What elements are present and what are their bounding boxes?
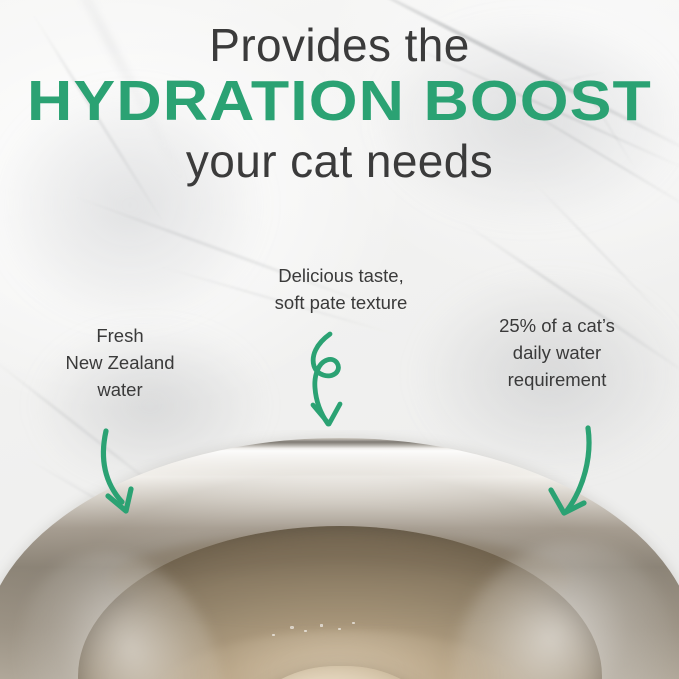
broth-bubble [320, 624, 323, 627]
annotation-delicious-taste-soft-pate: Delicious taste, soft pate texture [236, 262, 446, 316]
headline-line-2-accent: HYDRATION BOOST [0, 73, 679, 130]
headline-line-3: your cat needs [0, 138, 679, 184]
broth-bubble [272, 634, 275, 636]
infographic-canvas: Provides the HYDRATION BOOST your cat ne… [0, 0, 679, 679]
annotation-fresh-new-zealand-water: Fresh New Zealand water [30, 322, 210, 404]
product-photo [0, 430, 679, 679]
broth-bubble [290, 626, 294, 629]
broth-bubble [352, 622, 355, 624]
annotation-daily-water-requirement: 25% of a cat’s daily water requirement [466, 312, 648, 394]
headline-block: Provides the HYDRATION BOOST your cat ne… [0, 22, 679, 184]
headline-line-1: Provides the [0, 22, 679, 68]
